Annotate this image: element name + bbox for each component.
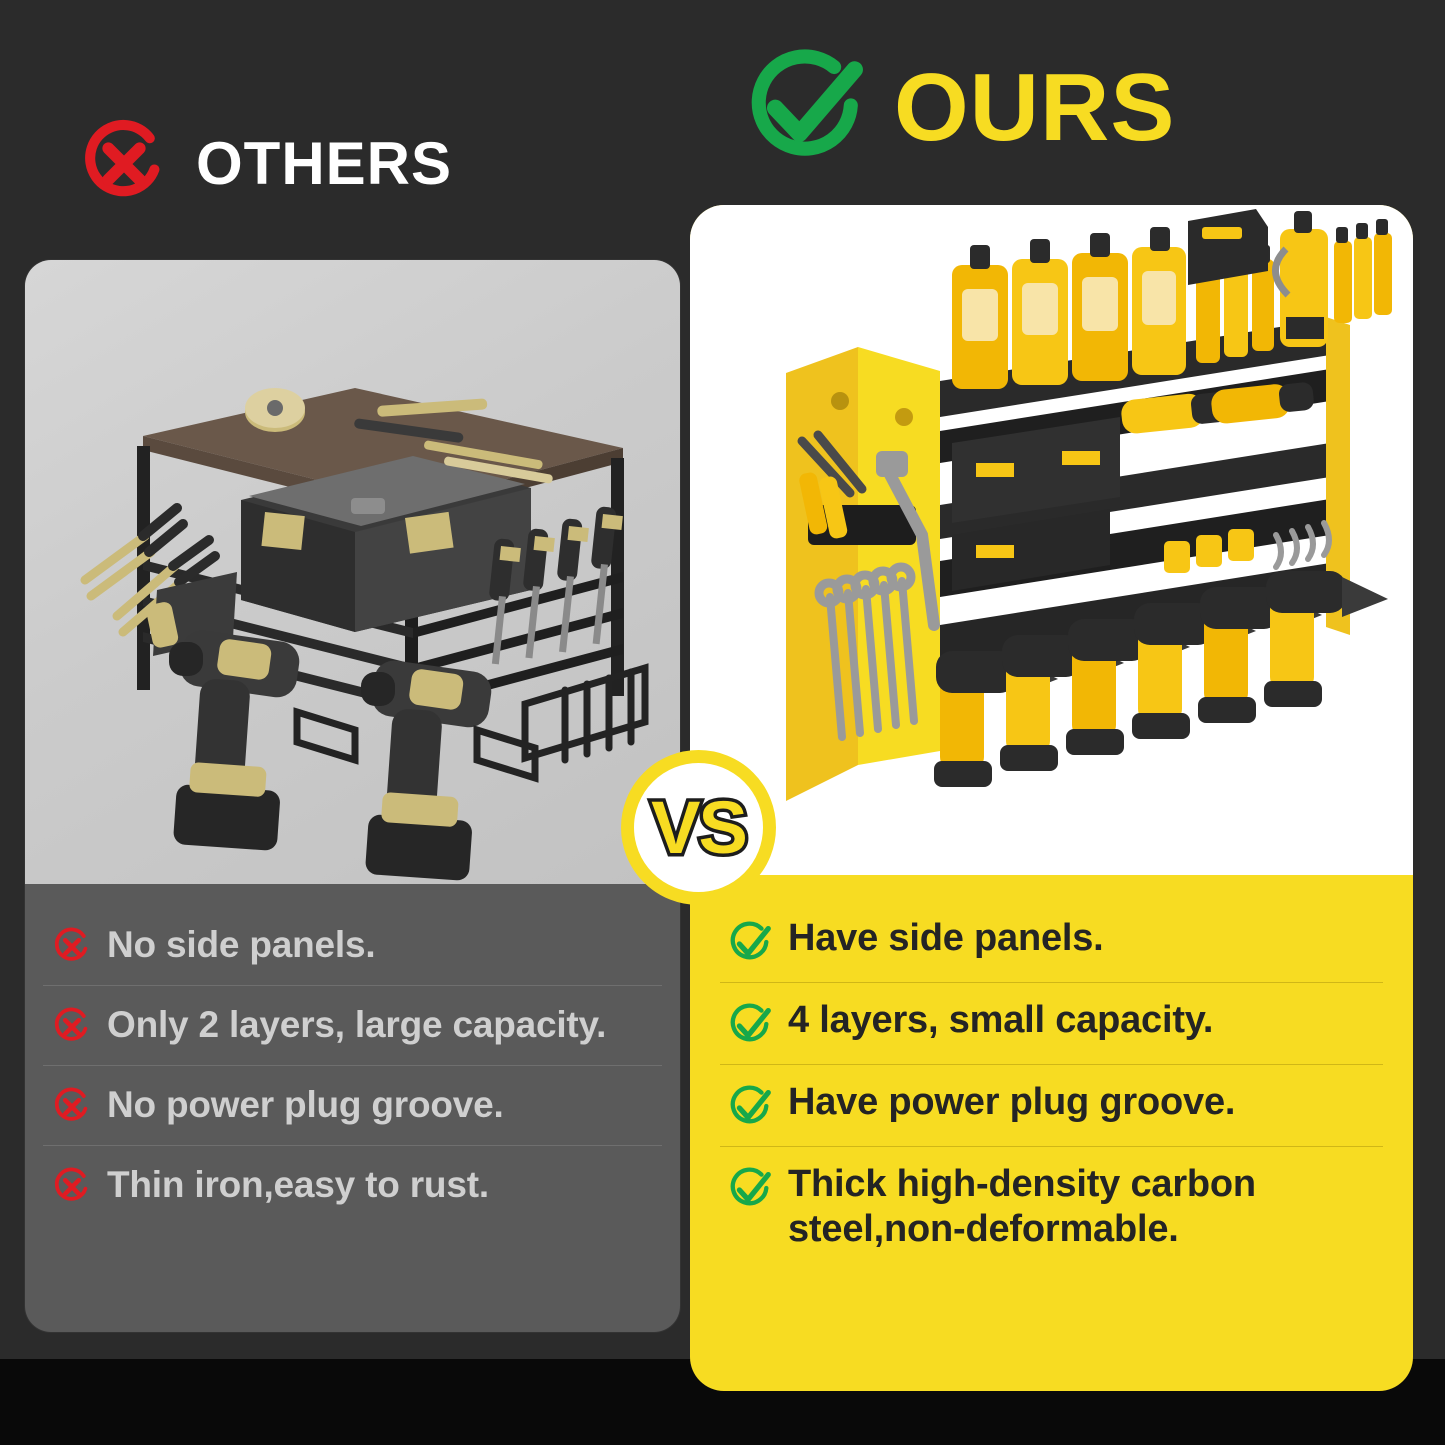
circle-x-icon [51, 926, 93, 968]
others-feature-list: No side panels. Only 2 layers, large cap… [25, 884, 680, 1235]
list-item-label: No side panels. [107, 923, 375, 967]
list-item: Have side panels. [720, 901, 1383, 982]
ours-feature-list: Have side panels. 4 layers, small capaci… [690, 875, 1413, 1289]
circle-check-icon [726, 1001, 774, 1049]
list-item: Thin iron,easy to rust. [43, 1145, 662, 1225]
vs-label: VS [651, 791, 746, 865]
list-item: Have power plug groove. [720, 1064, 1383, 1146]
list-item-label: 4 layers, small capacity. [788, 998, 1213, 1043]
list-item-label: Have power plug groove. [788, 1080, 1235, 1125]
others-header: OTHERS [78, 118, 452, 210]
list-item: No side panels. [43, 906, 662, 985]
list-item: No power plug groove. [43, 1065, 662, 1145]
others-tool-rack-illustration [25, 260, 680, 884]
circle-check-icon [742, 44, 870, 172]
circle-check-icon [726, 919, 774, 967]
list-item-label: Thin iron,easy to rust. [107, 1163, 489, 1207]
others-card: No side panels. Only 2 layers, large cap… [25, 260, 680, 1332]
list-item: Only 2 layers, large capacity. [43, 985, 662, 1065]
ours-tool-rack-illustration [690, 205, 1413, 875]
list-item-label: Have side panels. [788, 916, 1104, 961]
list-item-label: No power plug groove. [107, 1083, 504, 1127]
ours-header: OURS [742, 44, 1175, 172]
circle-x-icon [78, 118, 170, 210]
others-title: OTHERS [196, 134, 452, 194]
circle-check-icon [726, 1165, 774, 1213]
ours-title: OURS [894, 60, 1175, 156]
list-item-label: Thick high-density carbon steel,non-defo… [788, 1162, 1379, 1252]
ours-product-photo [690, 205, 1413, 875]
others-product-photo [25, 260, 680, 884]
list-item: Thick high-density carbon steel,non-defo… [720, 1146, 1383, 1267]
circle-x-icon [51, 1166, 93, 1208]
list-item: 4 layers, small capacity. [720, 982, 1383, 1064]
vs-badge: VS [621, 750, 776, 905]
list-item-label: Only 2 layers, large capacity. [107, 1003, 606, 1047]
ours-card: Have side panels. 4 layers, small capaci… [690, 205, 1413, 1391]
circle-x-icon [51, 1006, 93, 1048]
comparison-infographic: OTHERS OURS [0, 0, 1445, 1445]
circle-check-icon [726, 1083, 774, 1131]
circle-x-icon [51, 1086, 93, 1128]
